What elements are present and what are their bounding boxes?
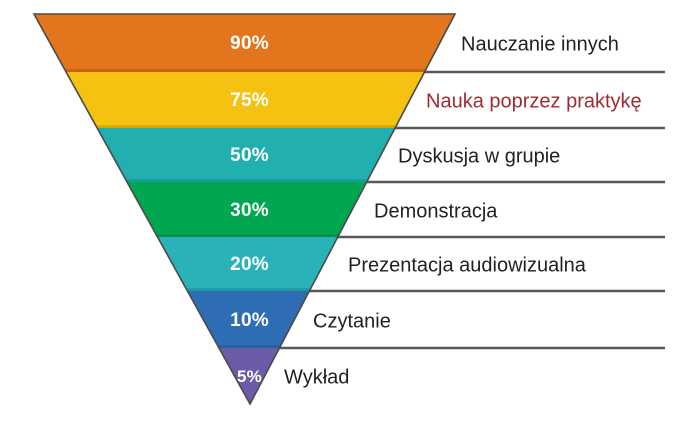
percent-label: 20% xyxy=(230,254,269,276)
percent-label: 5% xyxy=(237,367,262,387)
category-label: Nauka poprzez praktykę xyxy=(426,91,642,114)
category-label: Wykład xyxy=(284,367,349,390)
category-label: Demonstracja xyxy=(374,200,497,223)
percent-label: 90% xyxy=(230,33,269,55)
percent-label: 30% xyxy=(230,200,269,222)
category-label: Nauczanie innych xyxy=(461,34,619,57)
learning-pyramid-figure: 90%75%50%30%20%10%5% Nauczanie innychNau… xyxy=(0,0,692,433)
category-label: Czytanie xyxy=(313,310,391,333)
percent-label: 50% xyxy=(230,145,269,167)
percent-label: 10% xyxy=(230,310,269,332)
percent-label: 75% xyxy=(230,90,269,112)
category-label: Prezentacja audiowizualna xyxy=(348,255,586,278)
category-label: Dyskusja w grupie xyxy=(398,146,560,169)
